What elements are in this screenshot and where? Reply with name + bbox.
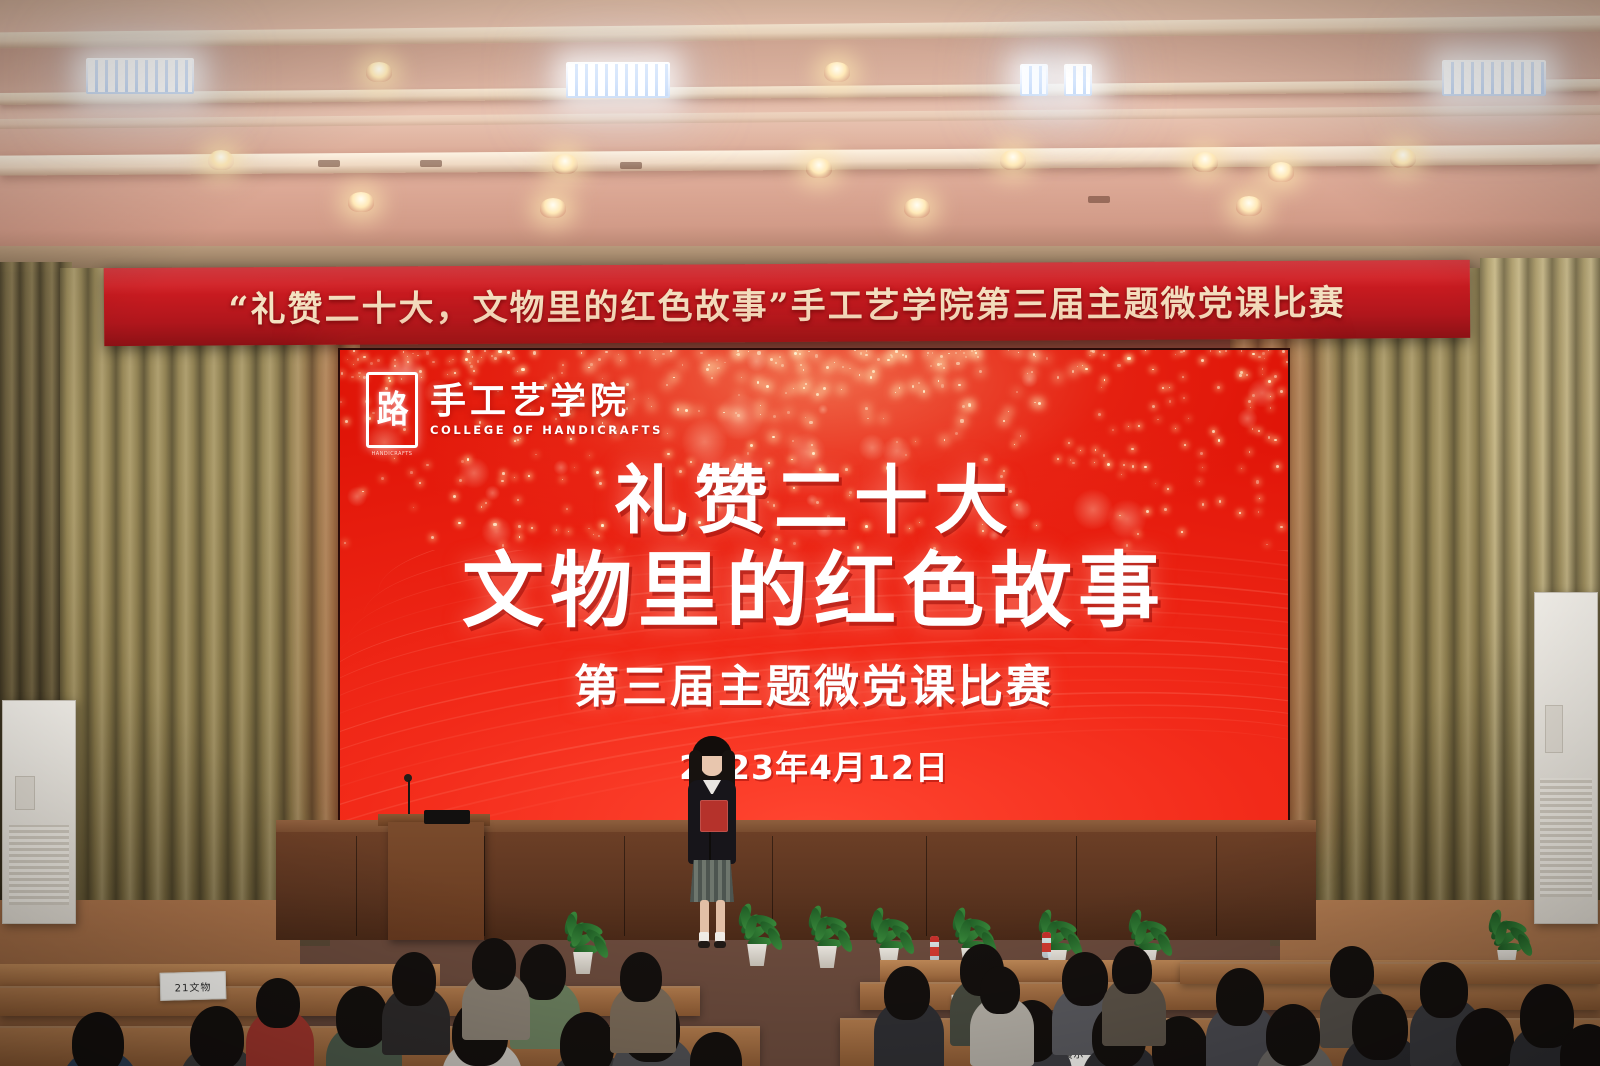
led-screen: 路 HANDICRAFTS 手工艺学院 COLLEGE OF HANDICRAF…	[340, 350, 1288, 826]
logo-name-en: COLLEGE OF HANDICRAFTS	[430, 423, 663, 437]
presenter-skirt	[690, 860, 734, 902]
audience-head	[884, 966, 930, 1020]
event-date: 2023年4月12日	[340, 741, 1288, 789]
ceiling-downlight	[366, 62, 392, 82]
auditorium-photo: “礼赞二十大，文物里的红色故事”手工艺学院第三届主题微党课比赛 路 HANDIC…	[0, 0, 1600, 1066]
ceiling-downlight	[1236, 196, 1262, 216]
table-placard: 21文物	[160, 971, 227, 1001]
banner-text: “礼赞二十大，文物里的红色故事”手工艺学院第三届主题微党课比赛	[228, 274, 1346, 332]
presenter-shoe	[714, 941, 726, 948]
ceiling-panel-light	[1064, 64, 1092, 96]
audience-head	[72, 1012, 124, 1066]
placard-label: 21文物	[174, 978, 211, 994]
title-line-2: 文物里的红色故事	[340, 548, 1288, 637]
audience-head	[472, 938, 516, 990]
ceiling-vent	[318, 160, 340, 167]
ceiling-downlight	[1390, 148, 1416, 168]
subtitle: 第三届主题微党课比赛	[340, 650, 1288, 715]
audience-head	[190, 1006, 244, 1066]
ceiling-panel-light	[1442, 60, 1546, 96]
podium-microphone-stand	[408, 780, 410, 818]
seal-logo-icon: 路 HANDICRAFTS	[366, 372, 418, 448]
audience-head	[1216, 968, 1264, 1026]
audience-head	[392, 952, 436, 1006]
ceiling-panel-light	[1020, 64, 1048, 96]
ceiling-downlight	[904, 198, 930, 218]
right-air-conditioner	[1534, 592, 1598, 924]
audience-head	[560, 1012, 614, 1066]
ceiling-downlight	[208, 150, 234, 170]
stage-plant	[730, 920, 784, 966]
laptop-icon	[424, 810, 470, 824]
ceiling-vent	[420, 160, 442, 167]
college-logo: 路 HANDICRAFTS 手工艺学院 COLLEGE OF HANDICRAF…	[366, 372, 663, 448]
audience-head	[1266, 1004, 1320, 1066]
ceiling-downlight	[1192, 152, 1218, 172]
water-bottle	[930, 936, 939, 962]
event-banner: “礼赞二十大，文物里的红色故事”手工艺学院第三届主题微党课比赛	[104, 260, 1470, 346]
water-bottle	[1042, 932, 1051, 958]
title-line-1: 礼赞二十大	[340, 462, 1288, 542]
seal-glyph: 路	[376, 393, 408, 426]
audience-head	[1062, 952, 1108, 1006]
audience-head	[1352, 994, 1408, 1060]
left-floor-cabinet	[2, 700, 76, 924]
ceiling-downlight	[1268, 162, 1294, 182]
audience-head	[1330, 946, 1374, 998]
audience-head	[1112, 946, 1152, 994]
podium	[388, 822, 484, 940]
ceiling-downlight	[1000, 150, 1026, 170]
presenter-red-folder	[700, 800, 728, 832]
presenter-shoe	[698, 941, 710, 948]
ceiling-downlight	[540, 198, 566, 218]
logo-name-cn: 手工艺学院	[430, 383, 663, 421]
audience-head	[336, 986, 388, 1048]
ceiling-vent	[620, 162, 642, 169]
ceiling-downlight	[552, 154, 578, 174]
ceiling-downlight	[348, 192, 374, 212]
ceiling-panel-light	[566, 62, 670, 98]
ceiling-vent	[1088, 196, 1110, 203]
stage-plant	[800, 922, 854, 968]
led-screen-frame: 路 HANDICRAFTS 手工艺学院 COLLEGE OF HANDICRAF…	[338, 348, 1290, 828]
ceiling-panel-light	[86, 58, 194, 94]
seal-caption: HANDICRAFTS	[369, 451, 415, 457]
audience-head	[620, 952, 662, 1002]
audience-head	[256, 978, 300, 1028]
ceiling-downlight	[824, 62, 850, 82]
audience-head	[980, 966, 1020, 1014]
led-title-block: 礼赞二十大 文物里的红色故事 第三届主题微党课比赛 2023年4月12日	[340, 462, 1288, 789]
ceiling-downlight	[806, 158, 832, 178]
audience-head	[1420, 962, 1468, 1018]
